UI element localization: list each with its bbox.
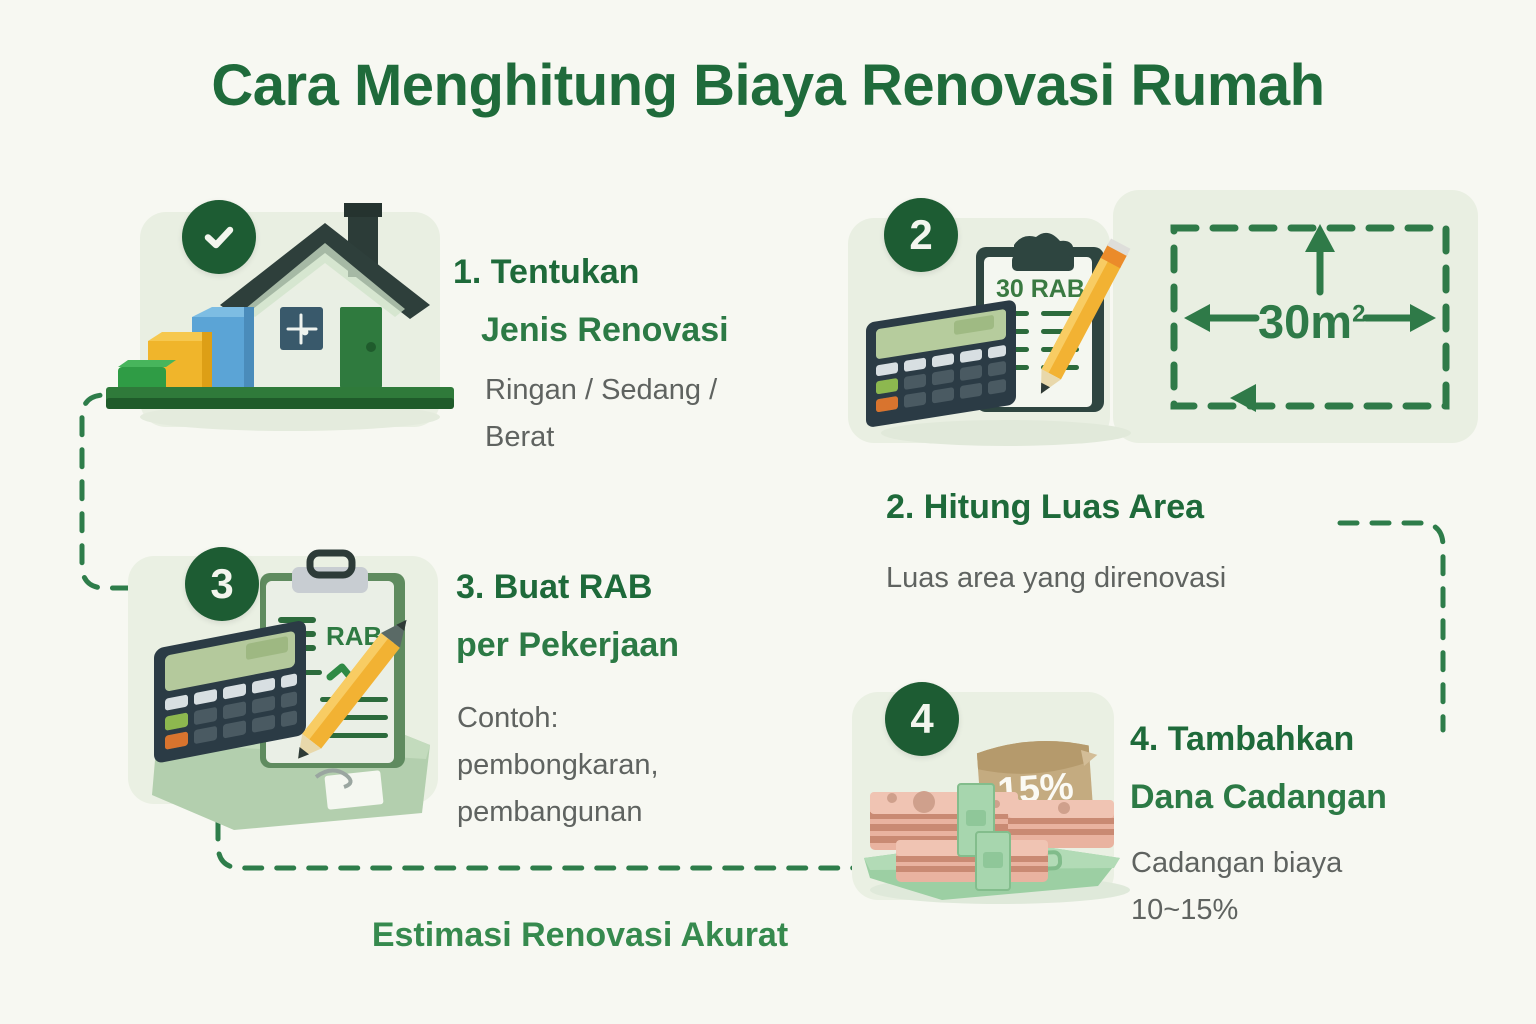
area-value: 30m xyxy=(1258,295,1352,348)
step-3-subtext-line3: pembangunan xyxy=(457,789,642,836)
clipboard-calculator-illustration-step3: RAB xyxy=(130,545,450,835)
area-superscript: 2 xyxy=(1352,300,1365,327)
step-4-subtext-line1: Cadangan biaya xyxy=(1131,840,1342,887)
step-4-badge: 4 xyxy=(885,682,959,756)
step-4-subtext-line2: 10~15% xyxy=(1131,887,1238,934)
step-1-heading-line1: 1. Tentukan xyxy=(453,243,639,301)
check-icon xyxy=(199,217,239,257)
step-2-subtext: Luas area yang direnovasi xyxy=(886,555,1356,602)
step-2-heading: 2. Hitung Luas Area xyxy=(886,478,1204,536)
footer-summary: Estimasi Renovasi Akurat xyxy=(300,916,860,955)
step-2-badge: 2 xyxy=(884,198,958,272)
page-title: Cara Menghitung Biaya Renovasi Rumah xyxy=(0,52,1536,119)
area-measurement-label: 30m2 xyxy=(1258,294,1365,349)
clipboard-text-step2: 30 RAB xyxy=(996,275,1085,303)
step-3-subtext-line1: Contoh: xyxy=(457,695,559,742)
step-1-heading-line2: Jenis Renovasi xyxy=(481,301,729,359)
step-1-subtext: Ringan / Sedang / Berat xyxy=(485,367,785,461)
infographic-canvas: Cara Menghitung Biaya Renovasi Rumah xyxy=(0,0,1536,1024)
step-3-badge: 3 xyxy=(185,547,259,621)
step-4-heading-line2: Dana Cadangan xyxy=(1130,768,1387,826)
step-3-heading-line1: 3. Buat RAB xyxy=(456,558,652,616)
step-4-heading-line1: 4. Tambahkan xyxy=(1130,710,1354,768)
step-1-badge xyxy=(182,200,256,274)
house-illustration xyxy=(100,195,460,445)
step-3-heading-line2: per Pekerjaan xyxy=(456,616,679,674)
step-3-subtext-line2: pembongkaran, xyxy=(457,742,659,789)
